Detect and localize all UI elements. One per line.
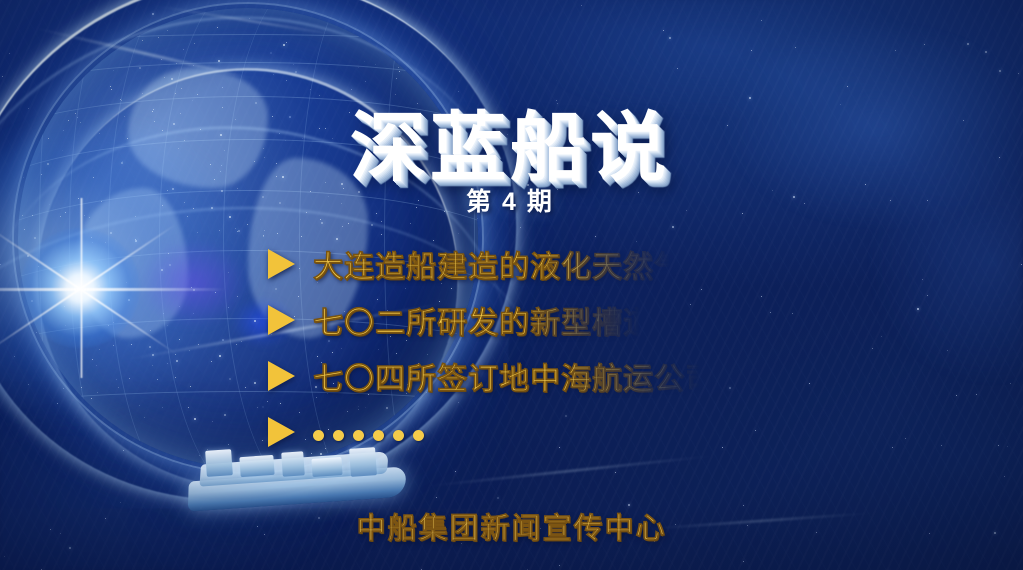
headline-list: 大连造船建造的液化天然气 七〇二所研发的新型槽道 七〇四所签订地中海航运公司: [268, 236, 788, 460]
content-layer: 深蓝船说 第 4 期 大连造船建造的液化天然气 七〇二所研发的新型槽道 七〇四所…: [0, 0, 1023, 570]
list-item-label: 七〇二所研发的新型槽道: [313, 298, 654, 342]
ellipsis-dots: [313, 424, 424, 441]
play-triangle-icon: [268, 249, 295, 279]
list-item: 七〇四所签订地中海航运公司: [268, 348, 788, 404]
dot: [313, 430, 324, 441]
list-item: 七〇二所研发的新型槽道: [268, 292, 788, 348]
dot: [373, 430, 384, 441]
producer-credit: 中船集团新闻宣传中心: [0, 505, 1023, 547]
list-item: [268, 404, 788, 460]
issue-label: 第 4 期: [300, 182, 720, 218]
list-item-label: 七〇四所签订地中海航运公司: [313, 354, 716, 398]
list-item-label: 大连造船建造的液化天然气: [313, 242, 685, 286]
play-triangle-icon: [268, 417, 295, 447]
play-triangle-icon: [268, 361, 295, 391]
dot: [393, 430, 404, 441]
video-frame: 深蓝船说 第 4 期 大连造船建造的液化天然气 七〇二所研发的新型槽道 七〇四所…: [0, 0, 1023, 570]
list-item: 大连造船建造的液化天然气: [268, 236, 788, 292]
dot: [333, 430, 344, 441]
dot: [413, 430, 424, 441]
program-title: 深蓝船说: [300, 86, 720, 196]
dot: [353, 430, 364, 441]
play-triangle-icon: [268, 305, 295, 335]
